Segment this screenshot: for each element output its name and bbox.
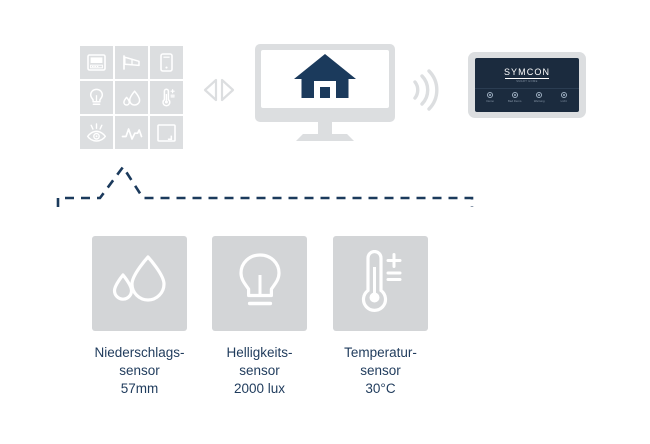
wind-vane-icon	[121, 54, 142, 71]
sensor-caption-precipitation: Niederschlags- sensor 57mm	[92, 344, 187, 398]
monitor-neck	[318, 122, 332, 135]
sensor-name-line2: sensor	[333, 362, 428, 380]
sensor-name-line2: sensor	[212, 362, 307, 380]
sensor-name-line1: Temperatur-	[333, 344, 428, 362]
control-panel-icon	[87, 54, 106, 71]
thermometer-icon	[158, 88, 176, 107]
motion-eye-icon	[86, 123, 107, 142]
sensor-name-line2: sensor	[92, 362, 187, 380]
palette-tile-thermometer[interactable]	[150, 81, 183, 114]
palette-tile-wind-vane[interactable]	[115, 46, 148, 79]
tablet-menu-item-0[interactable]: Demo	[479, 92, 501, 103]
gauge-icon	[487, 92, 493, 98]
palette-tile-water-droplets[interactable]	[115, 81, 148, 114]
diagram-canvas: SYMCON SMART HOME Demo Bad Demo Wartung	[0, 0, 650, 444]
tablet-menu-label-1: Bad Demo	[508, 100, 522, 103]
sensor-value: 57mm	[92, 380, 187, 398]
wifi-signal-icon	[411, 68, 441, 112]
monitor-screen	[261, 50, 389, 108]
sensor-caption-temperature: Temperatur- sensor 30°C	[333, 344, 428, 398]
thermometer-icon	[355, 250, 407, 317]
sensor-card-brightness[interactable]: Helligkeits- sensor 2000 lux	[212, 236, 307, 398]
tablet-menu-label-3: Licht	[561, 100, 567, 103]
logo-subtitle: SMART HOME	[516, 80, 538, 83]
temp-icon	[561, 92, 567, 98]
tablet-screen: SYMCON SMART HOME Demo Bad Demo Wartung	[475, 58, 579, 112]
wall-tablet-device[interactable]: SYMCON SMART HOME Demo Bad Demo Wartung	[468, 52, 586, 118]
dashed-house-outline-connector	[40, 145, 490, 215]
sensor-icon-box	[212, 236, 307, 331]
tablet-menu-item-3[interactable]: Licht	[553, 92, 575, 103]
desktop-monitor[interactable]	[255, 44, 395, 144]
sensor-card-precipitation[interactable]: Niederschlags- sensor 57mm	[92, 236, 187, 398]
sensor-caption-brightness: Helligkeits- sensor 2000 lux	[212, 344, 307, 398]
sensor-card-temperature[interactable]: Temperatur- sensor 30°C	[333, 236, 428, 398]
sensor-value: 30°C	[333, 380, 428, 398]
light-bulb-icon	[236, 251, 284, 316]
bidirectional-arrows-icon	[201, 77, 237, 103]
palette-tile-control-panel[interactable]	[80, 46, 113, 79]
tablet-menu-bar: Demo Bad Demo Wartung Licht	[475, 88, 579, 103]
palette-tile-smartphone[interactable]	[150, 46, 183, 79]
gauge-icon	[512, 92, 518, 98]
settings-icon	[536, 92, 542, 98]
house-icon	[292, 52, 358, 107]
symcon-logo: SYMCON	[504, 67, 550, 77]
tablet-menu-item-2[interactable]: Wartung	[528, 92, 550, 103]
sensor-icon-box	[92, 236, 187, 331]
waveform-icon	[121, 125, 143, 141]
tablet-menu-item-1[interactable]: Bad Demo	[504, 92, 526, 103]
sensor-icon-box	[333, 236, 428, 331]
smartphone-icon	[160, 53, 173, 72]
window-contact-icon	[157, 124, 176, 142]
monitor-base	[296, 134, 354, 141]
water-droplets-icon	[109, 253, 171, 314]
tablet-menu-label-0: Demo	[486, 100, 494, 103]
logo-underline	[505, 78, 549, 79]
tablet-brand-block: SYMCON SMART HOME	[504, 67, 550, 83]
light-bulb-icon	[89, 88, 104, 107]
water-droplets-icon	[122, 89, 142, 107]
sensor-icon-palette	[80, 46, 183, 149]
sensor-name-line1: Helligkeits-	[212, 344, 307, 362]
tablet-menu-label-2: Wartung	[534, 100, 545, 103]
sensor-value: 2000 lux	[212, 380, 307, 398]
sensor-name-line1: Niederschlags-	[92, 344, 187, 362]
palette-tile-light-bulb[interactable]	[80, 81, 113, 114]
